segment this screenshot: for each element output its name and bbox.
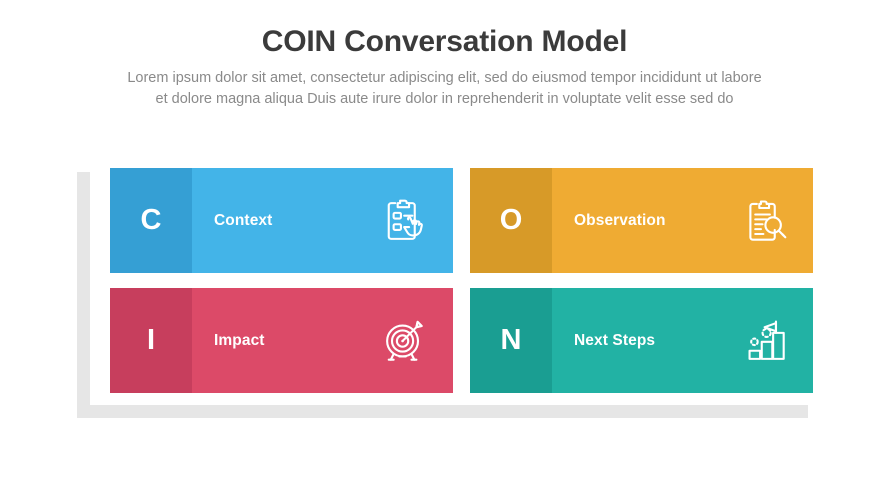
card-letter-context: C (141, 206, 162, 235)
clipboard-hand-icon (379, 195, 431, 247)
header: COIN Conversation Model Lorem ipsum dolo… (0, 22, 889, 110)
card-observation[interactable]: O Observation (470, 168, 813, 273)
slide-root: COIN Conversation Model Lorem ipsum dolo… (0, 0, 889, 500)
card-body-impact: Impact (192, 288, 453, 393)
card-letter-box-context: C (110, 168, 192, 273)
card-body-observation: Observation (552, 168, 813, 273)
card-label-context: Context (214, 212, 272, 230)
card-letter-box-impact: I (110, 288, 192, 393)
card-body-context: Context (192, 168, 453, 273)
page-subtitle: Lorem ipsum dolor sit amet, consectetur … (45, 68, 845, 110)
subtitle-line-2: et dolore magna aliqua Duis aute irure d… (45, 89, 845, 110)
podium-flag-icon (739, 315, 791, 367)
card-label-impact: Impact (214, 332, 265, 350)
card-letter-box-observation: O (470, 168, 552, 273)
card-letter-next-steps: N (501, 326, 522, 355)
card-impact[interactable]: I Impact (110, 288, 453, 393)
card-letter-observation: O (500, 206, 523, 235)
clipboard-magnifier-icon (739, 195, 791, 247)
card-next-steps[interactable]: N Next Steps (470, 288, 813, 393)
cards-grid: C Context (110, 168, 809, 393)
card-letter-impact: I (147, 326, 155, 355)
card-context[interactable]: C Context (110, 168, 453, 273)
card-label-next-steps: Next Steps (574, 332, 655, 350)
card-label-observation: Observation (574, 212, 666, 230)
subtitle-line-1: Lorem ipsum dolor sit amet, consectetur … (45, 68, 845, 89)
card-letter-box-next-steps: N (470, 288, 552, 393)
card-body-next-steps: Next Steps (552, 288, 813, 393)
page-title: COIN Conversation Model (0, 22, 889, 62)
target-arrow-icon (379, 315, 431, 367)
